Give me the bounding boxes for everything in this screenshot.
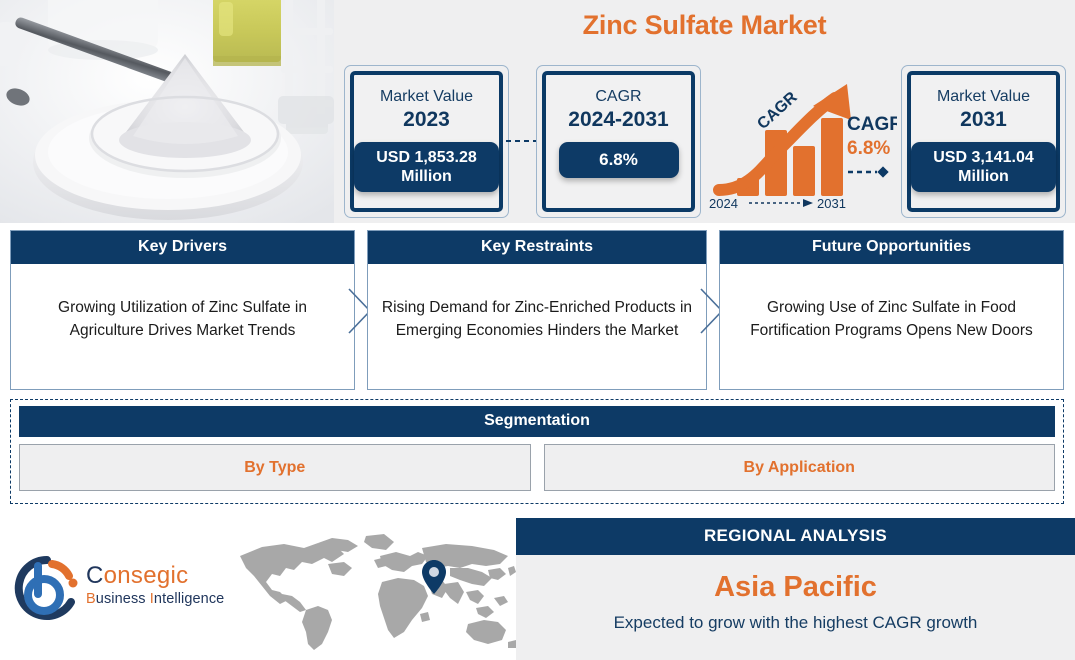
consegic-logo[interactable]: Consegic Business Intelligence [14, 554, 229, 624]
regional-analysis-note: Expected to grow with the highest CAGR g… [516, 613, 1075, 633]
cagr-growth-chart-icon: CAGR CAGR 6.8% 2024 2031 [705, 78, 897, 210]
logo-tagline-business: usiness [96, 591, 150, 607]
stat-card-market-value-2031: Market Value 2031 USD 3,141.04 Million [901, 65, 1066, 218]
stat-card-market-value-2023: Market Value 2023 USD 1,853.28 Million [344, 65, 509, 218]
stat-value-pill: 6.8% [559, 142, 679, 178]
stat-year: 2023 [403, 107, 450, 132]
future-opportunities-text: Growing Use of Zinc Sulfate in Food Fort… [720, 264, 1063, 389]
stat-label: Market Value [380, 88, 473, 106]
key-drivers-box: Key Drivers Growing Utilization of Zinc … [10, 230, 355, 390]
stat-year: 2024-2031 [568, 107, 668, 132]
cagr-end-year: 2031 [817, 196, 846, 210]
logo-brand-rest: onsegic [104, 562, 189, 589]
future-opportunities-heading: Future Opportunities [720, 231, 1063, 264]
consegic-logo-text: Consegic Business Intelligence [86, 562, 224, 607]
key-drivers-text: Growing Utilization of Zinc Sulfate in A… [11, 264, 354, 389]
logo-brand-name: Consegic [86, 562, 224, 590]
regional-analysis-heading: REGIONAL ANALYSIS [516, 518, 1075, 555]
regional-analysis-region: Asia Pacific [516, 571, 1075, 604]
cagr-title: CAGR [847, 114, 897, 135]
logo-tagline-intelligence: ntelligence [154, 591, 224, 607]
stat-label: CAGR [595, 88, 641, 106]
logo-tagline-b: B [86, 591, 96, 607]
key-restraints-text: Rising Demand for Zinc-Enriched Products… [368, 264, 706, 389]
infographic-page: Zinc Sulfate Market Market Value 2023 US… [0, 0, 1075, 660]
segmentation-heading: Segmentation [19, 406, 1055, 437]
stat-year: 2031 [960, 107, 1007, 132]
stat-value-pill: USD 1,853.28 Million [354, 142, 499, 192]
segmentation-section: Segmentation By Type By Application [10, 399, 1064, 504]
stat-card-cagr: CAGR 2024-2031 6.8% [536, 65, 701, 218]
top-band: Zinc Sulfate Market Market Value 2023 US… [0, 0, 1075, 223]
key-insights-row: Key Drivers Growing Utilization of Zinc … [0, 230, 1075, 390]
stat-value-pill: USD 3,141.04 Million [911, 142, 1056, 192]
regional-analysis-panel: REGIONAL ANALYSIS Asia Pacific Expected … [516, 518, 1075, 660]
key-restraints-box: Key Restraints Rising Demand for Zinc-En… [367, 230, 707, 390]
future-opportunities-box: Future Opportunities Growing Use of Zinc… [719, 230, 1064, 390]
footer-band: Consegic Business Intelligence [0, 514, 1075, 660]
segment-label: By Type [244, 459, 305, 477]
page-title: Zinc Sulfate Market [334, 10, 1075, 41]
world-map [232, 534, 517, 654]
key-restraints-heading: Key Restraints [368, 231, 706, 264]
stat-label: Market Value [937, 88, 1030, 106]
hero-area: Zinc Sulfate Market Market Value 2023 US… [334, 0, 1075, 223]
segment-by-type[interactable]: By Type [19, 444, 531, 491]
product-photo [0, 0, 334, 223]
segment-label: By Application [744, 459, 855, 477]
cagr-value: 6.8% [847, 138, 890, 159]
cagr-start-year: 2024 [709, 196, 738, 210]
key-drivers-heading: Key Drivers [11, 231, 354, 264]
segment-by-application[interactable]: By Application [544, 444, 1056, 491]
consegic-logo-mark [14, 554, 80, 624]
logo-brand-initial: C [86, 562, 104, 589]
logo-tagline: Business Intelligence [86, 591, 224, 607]
